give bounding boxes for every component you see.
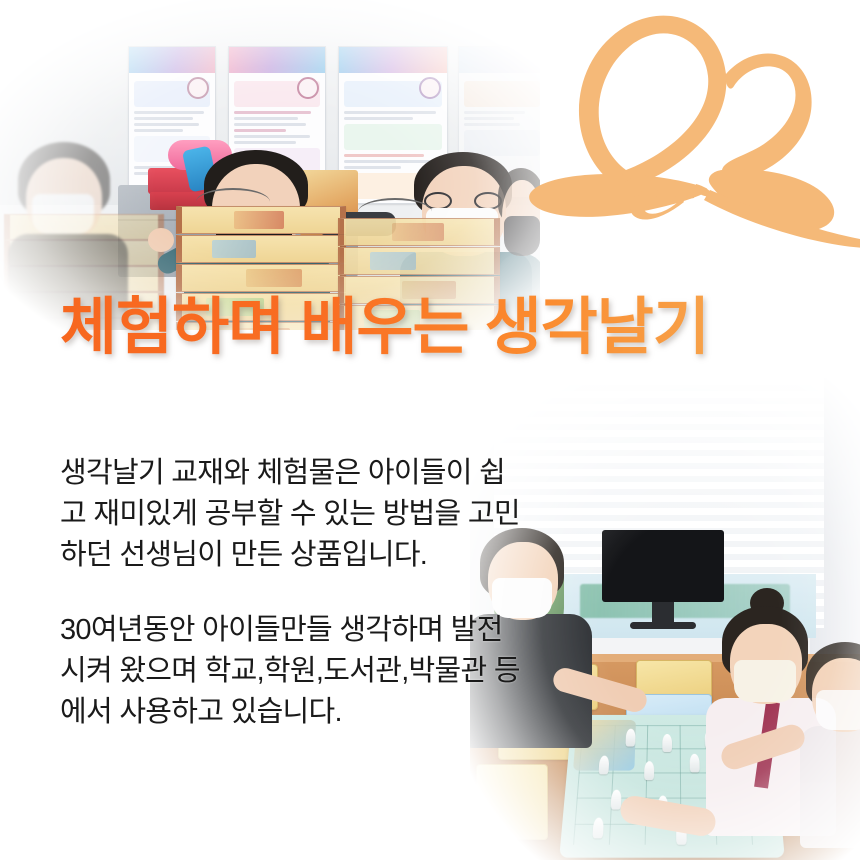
- paragraph-1: 생각날기 교재와 체험물은 아이들이 쉽 고 재미있게 공부할 수 있는 방법을…: [60, 453, 580, 576]
- computer-monitor: [602, 530, 724, 602]
- description-block: 생각날기 교재와 체험물은 아이들이 쉽 고 재미있게 공부할 수 있는 방법을…: [60, 424, 580, 762]
- monitor-stand: [652, 602, 674, 624]
- monitor-base: [630, 622, 696, 629]
- child: [800, 642, 860, 848]
- promo-banner: 체험하며 배우는 생각날기 생각날기 교재와 체험물은 아이들이 쉽 고 재미있…: [0, 0, 860, 860]
- paragraph-2: 30여년동안 아이들만들 생각하며 발전 시켜 왔으며 학교,학원,도서관,박물…: [60, 610, 580, 733]
- butterfly-logo: [498, 8, 860, 270]
- photo-children-with-learning-cards: [0, 0, 540, 330]
- page-title: 체험하며 배우는 생각날기: [60, 294, 709, 362]
